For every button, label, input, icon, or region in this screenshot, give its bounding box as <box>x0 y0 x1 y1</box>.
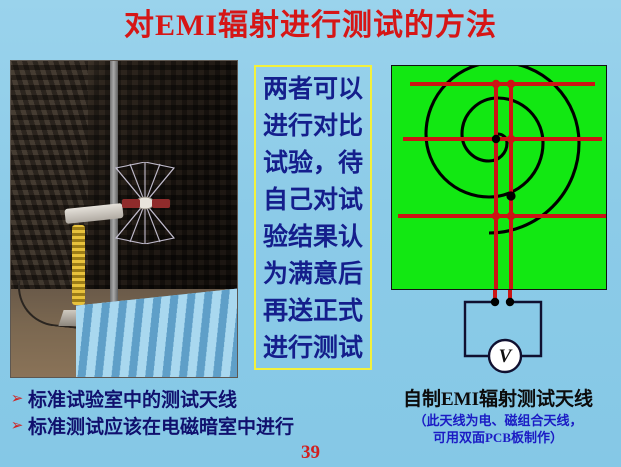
commentary-line: 进行对比 <box>258 108 368 145</box>
commentary-line: 为满意后 <box>258 256 368 293</box>
commentary-line: 验结果认 <box>258 219 368 256</box>
commentary-line: 两者可以 <box>258 71 368 108</box>
spiral-coil <box>426 66 579 233</box>
anechoic-chamber-photo <box>10 60 238 378</box>
commentary-line: 进行测试 <box>258 330 368 367</box>
page-title: 对EMI辐射进行测试的方法 <box>0 8 621 44</box>
commentary-line: 试验，待 <box>258 145 368 182</box>
diagram-caption: 自制EMI辐射测试天线 （此天线为电、磁组合天线， 可用双面PCB板制作） <box>378 388 618 446</box>
spring-coil <box>72 225 85 305</box>
commentary-line: 自己对试 <box>258 182 368 219</box>
arrow-bullet-icon: ➢ <box>6 391 28 406</box>
bullet-list: ➢ 标准试验室中的测试天线 ➢ 标准测试应该在电磁暗室中进行 <box>6 385 336 439</box>
caption-subtitle-line1: （此天线为电、磁组合天线， <box>378 412 618 429</box>
list-item-label: 标准试验室中的测试天线 <box>28 385 237 412</box>
list-item: ➢ 标准测试应该在电磁暗室中进行 <box>6 412 336 439</box>
caption-title: 自制EMI辐射测试天线 <box>378 388 618 412</box>
pcb-antenna-diagram <box>391 65 607 290</box>
voltmeter-circuit <box>391 290 607 380</box>
biconical-antenna <box>106 162 184 244</box>
vertical-traces <box>496 80 511 289</box>
list-item-label: 标准测试应该在电磁暗室中进行 <box>28 412 294 439</box>
page-number: 39 <box>0 442 621 464</box>
slide-canvas: 对EMI辐射进行测试的方法 <box>0 0 621 467</box>
commentary-line: 再送正式 <box>258 293 368 330</box>
list-item: ➢ 标准试验室中的测试天线 <box>6 385 336 412</box>
voltmeter-body <box>489 340 521 372</box>
commentary-textbox: 两者可以 进行对比 试验，待 自己对试 验结果认 为满意后 再送正式 进行测试 <box>254 65 372 370</box>
arrow-bullet-icon: ➢ <box>6 418 28 433</box>
terminal-dots <box>491 298 514 306</box>
